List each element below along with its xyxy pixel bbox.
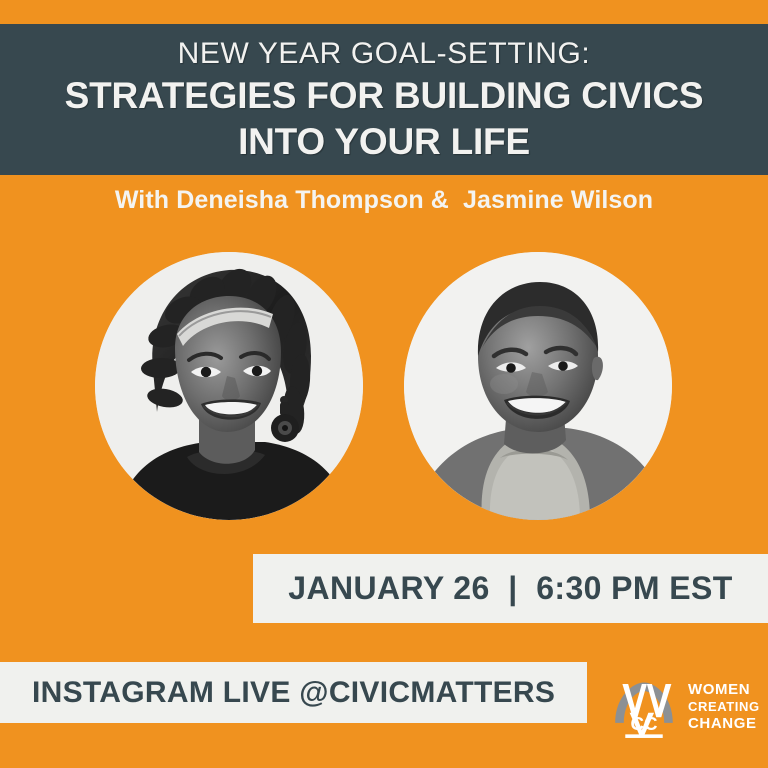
logo-wordmark: WOMEN CREATING CHANGE — [688, 681, 760, 733]
portrait-jasmine-wilson-image — [404, 252, 672, 520]
logo-word-creating: CREATING — [688, 699, 760, 715]
date-band: JANUARY 26 | 6:30 PM EST — [253, 554, 768, 623]
page-title-line-1: NEW YEAR GOAL-SETTING: — [178, 37, 591, 71]
logo-word-women: WOMEN — [688, 681, 760, 699]
portrait-deneisha-thompson-image — [95, 252, 363, 520]
logo-word-change: CHANGE — [688, 715, 760, 733]
page-title-line-2: STRATEGIES FOR BUILDING CIVICS — [65, 73, 704, 118]
women-creating-change-logo: CC WOMEN CREATING CHANGE — [608, 667, 768, 747]
event-datetime: JANUARY 26 | 6:30 PM EST — [288, 570, 732, 607]
event-flyer: NEW YEAR GOAL-SETTING: STRATEGIES FOR BU… — [0, 0, 768, 768]
wcc-monogram-icon: CC — [608, 671, 680, 743]
instagram-handle-text: INSTAGRAM LIVE @CIVICMATTERS — [32, 676, 555, 710]
portrait-jasmine-wilson — [404, 252, 672, 520]
svg-text:CC: CC — [630, 713, 657, 734]
portrait-deneisha-thompson — [95, 252, 363, 520]
instagram-live-band: INSTAGRAM LIVE @CIVICMATTERS — [0, 662, 587, 723]
page-title-line-3: INTO YOUR LIFE — [238, 119, 530, 164]
presenters-line: With Deneisha Thompson & Jasmine Wilson — [0, 186, 768, 215]
header-banner: NEW YEAR GOAL-SETTING: STRATEGIES FOR BU… — [0, 24, 768, 175]
